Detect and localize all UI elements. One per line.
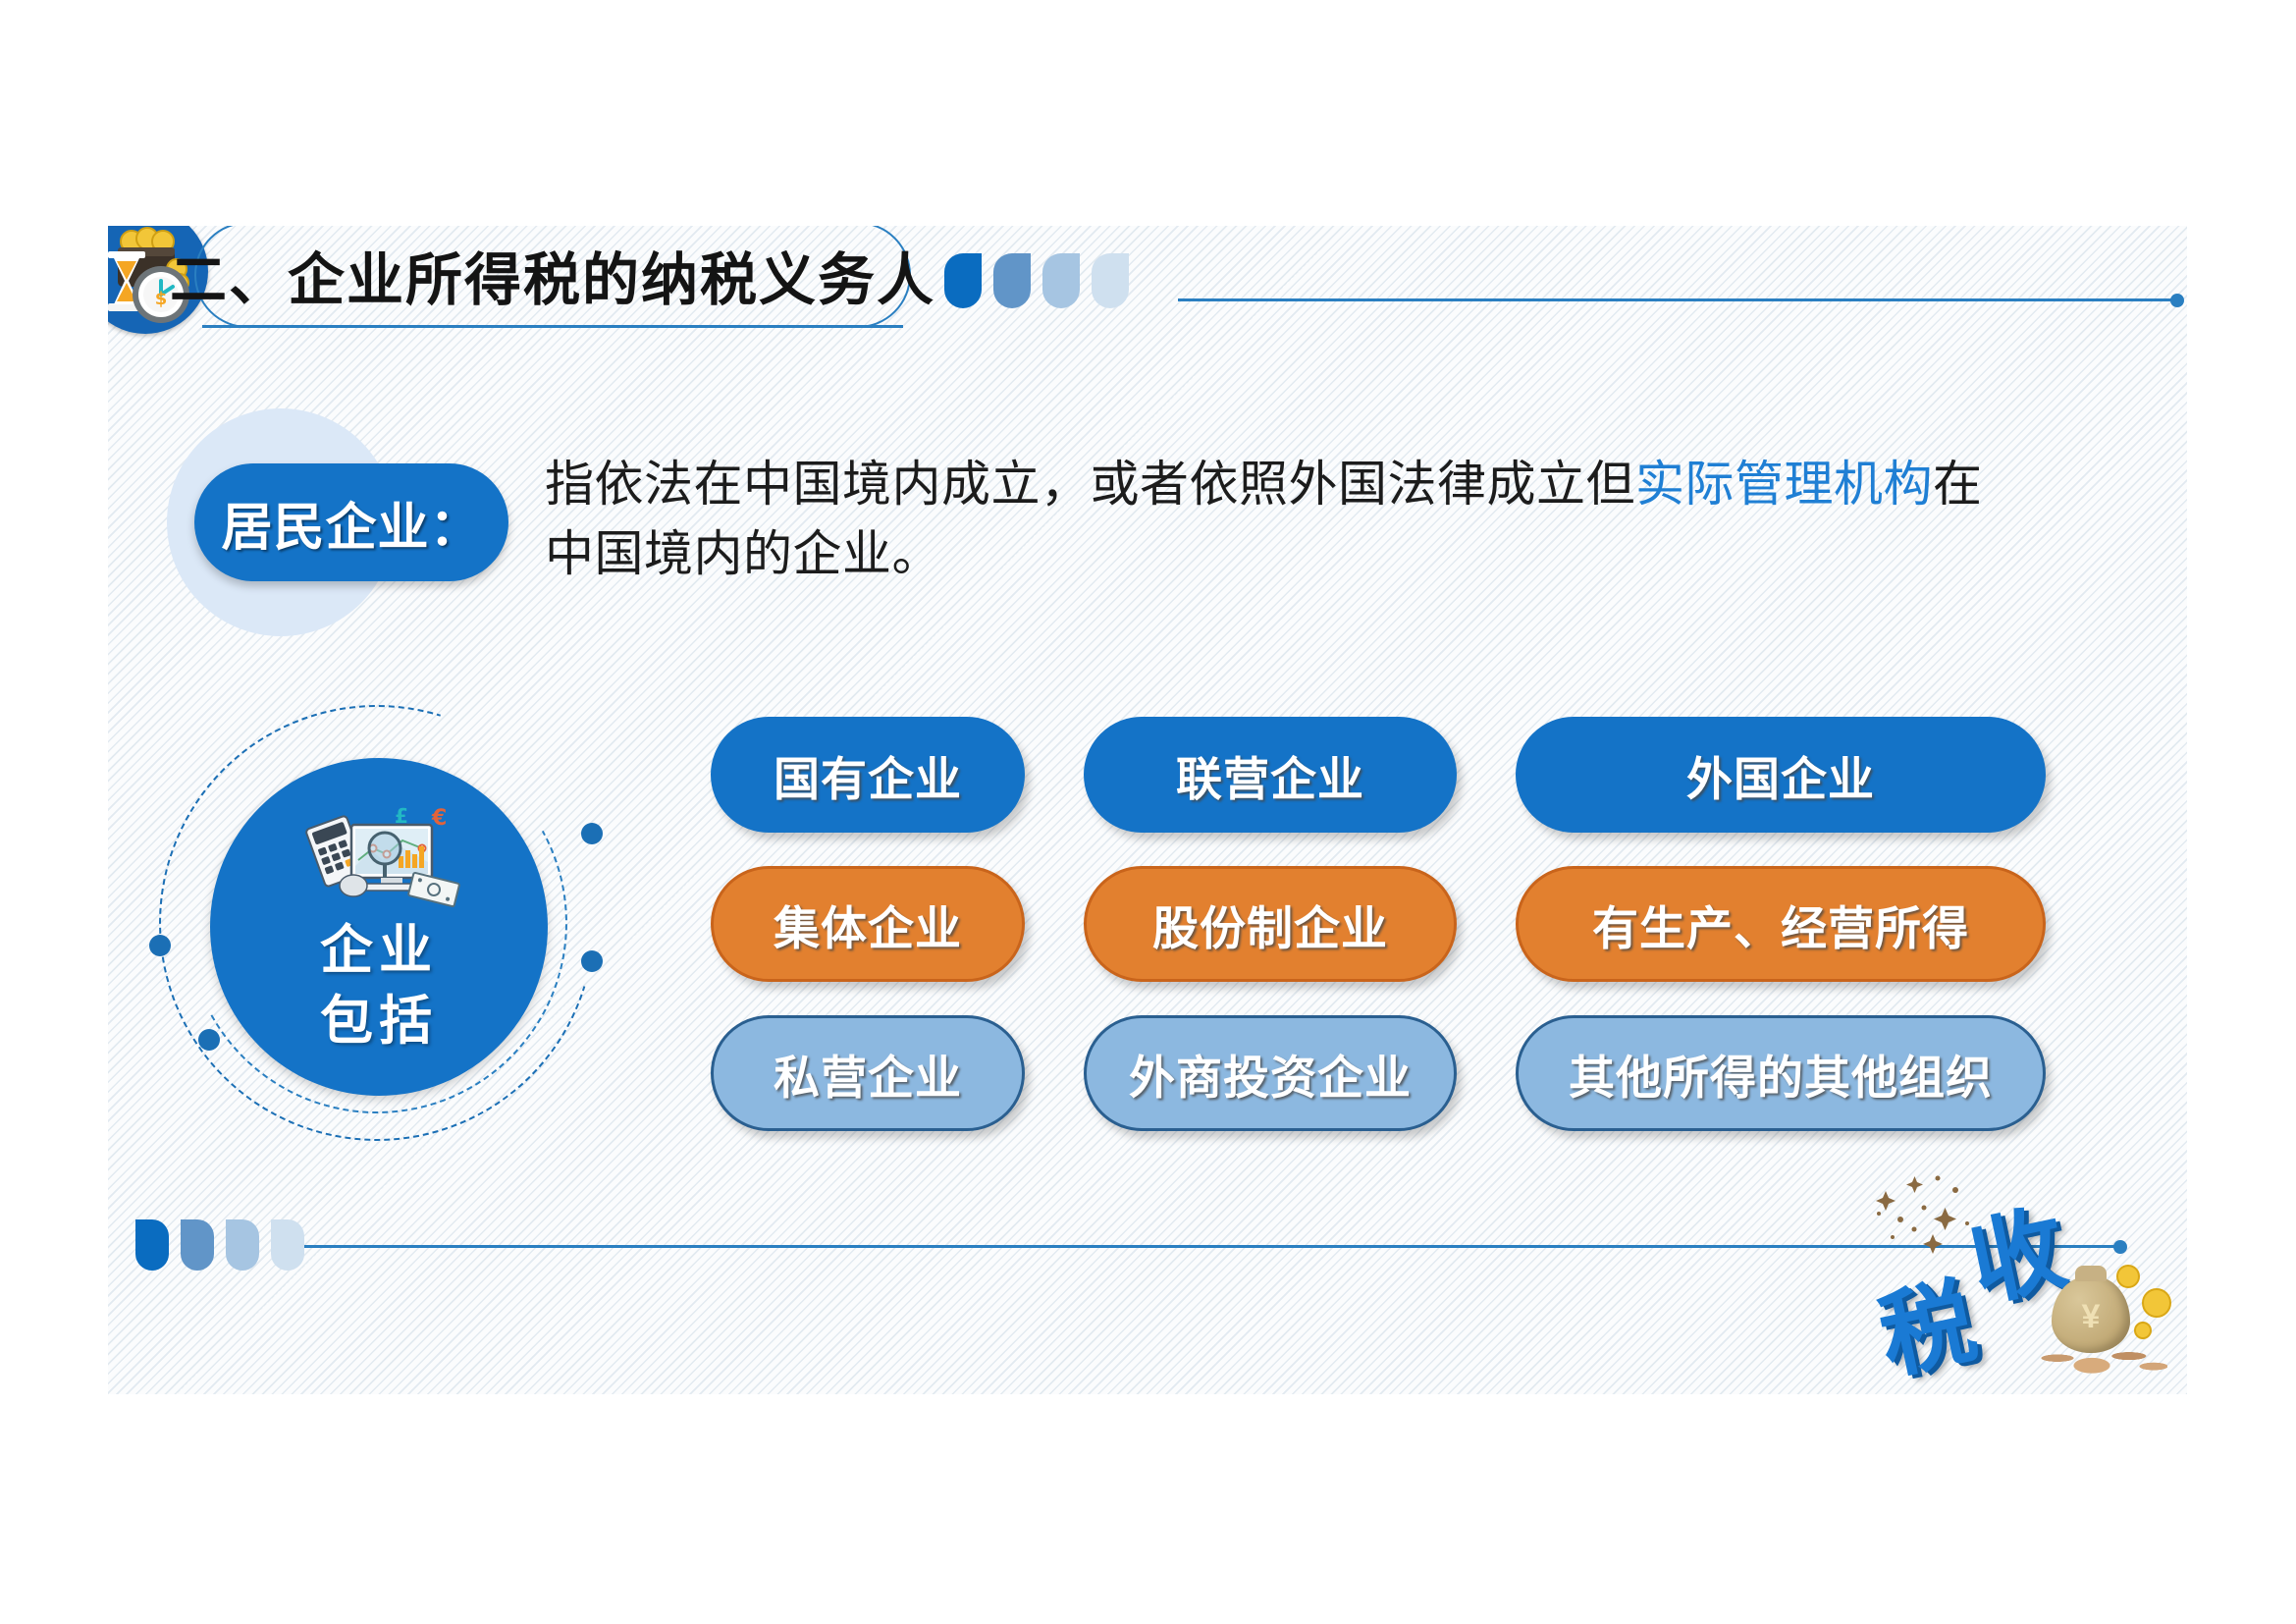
grid-gap	[1457, 866, 1516, 982]
resident-enterprise-label-text: 居民企业：	[221, 486, 481, 560]
category-pill-collective[interactable]: 集体企业	[711, 866, 1025, 982]
category-pill-label: 国有企业	[774, 741, 962, 809]
grid-gap	[1025, 717, 1084, 833]
title-leaf-decoration	[944, 253, 1141, 308]
category-pill-state-owned[interactable]: 国有企业	[711, 717, 1025, 833]
category-pill-label: 集体企业	[774, 891, 962, 958]
description-part-1: 指依法在中国境内成立，或者依照外国法律成立但	[545, 457, 1635, 512]
category-pill-label: 有生产、经营所得	[1592, 891, 1969, 958]
enterprise-includes-circle: £ € 企业 包括	[210, 758, 548, 1096]
grid-gap	[1025, 866, 1084, 982]
category-pill-foreign[interactable]: 外国企业	[1516, 717, 2046, 833]
title-frame: 二、企业所得税的纳税义务人	[194, 226, 911, 328]
category-pill-label: 外国企业	[1686, 741, 1875, 809]
bottom-rule-line	[304, 1245, 2120, 1248]
leaf-shape-2	[993, 253, 1031, 308]
category-pill-foreign-invested[interactable]: 外商投资企业	[1084, 1015, 1457, 1131]
category-pill-production-income[interactable]: 有生产、经营所得	[1516, 866, 2046, 982]
arc-endpoint-dot-2	[149, 935, 171, 956]
money-bag-icon	[2052, 1276, 2130, 1353]
slide-canvas: $ 二、企业所得税的纳税义务人 居民企业： 指依法在中国境内成立，或者依照外国法…	[108, 226, 2187, 1394]
includes-line-2: 包括	[320, 987, 438, 1056]
leaf-shape-4	[271, 1219, 304, 1271]
svg-text:$: $	[155, 289, 168, 309]
resident-enterprise-label: 居民企业：	[194, 463, 508, 581]
svg-text:€: €	[431, 806, 447, 831]
includes-line-1: 企业	[320, 916, 438, 986]
title-row: $ 二、企业所得税的纳税义务人	[108, 226, 2187, 353]
category-pill-joint-stock[interactable]: 股份制企业	[1084, 866, 1457, 982]
description-highlight: 实际管理机构	[1635, 457, 1933, 512]
category-pill-joint-venture[interactable]: 联营企业	[1084, 717, 1457, 833]
category-pill-label: 私营企业	[774, 1040, 962, 1108]
finance-desktop-calculator-icon: £ €	[296, 805, 461, 920]
enterprise-category-grid: 国有企业 联营企业 外国企业 集体企业 股份制企业 有生产、经营所得	[711, 717, 2144, 1139]
enterprise-includes-group: £ € 企业 包括	[159, 717, 669, 1129]
category-pill-label: 联营企业	[1176, 741, 1364, 809]
category-row-light-blue: 私营企业 外商投资企业 其他所得的其他组织	[711, 1015, 2144, 1131]
svg-text:£: £	[395, 805, 408, 828]
tax-money-illustration: 收 税	[1865, 1168, 2187, 1394]
leaf-shape-1	[135, 1219, 169, 1271]
grid-gap	[1457, 717, 1516, 833]
title-rule-line	[1178, 298, 2177, 301]
page-title: 二、企业所得税的纳税义务人	[196, 226, 909, 326]
grid-gap	[1025, 1015, 1084, 1131]
category-pill-label: 外商投资企业	[1129, 1040, 1412, 1108]
arc-endpoint-dot-4	[198, 1029, 220, 1051]
resident-enterprise-description: 指依法在中国境内成立，或者依照外国法律成立但实际管理机构在中国境内的企业。	[545, 450, 2017, 589]
category-pill-label: 股份制企业	[1152, 891, 1388, 958]
category-row-blue: 国有企业 联营企业 外国企业	[711, 717, 2144, 833]
leaf-shape-1	[944, 253, 982, 308]
gold-coin-2	[2142, 1288, 2171, 1318]
arc-endpoint-dot-3	[581, 950, 603, 972]
gold-coin-3	[2134, 1322, 2152, 1339]
category-pill-other-organizations[interactable]: 其他所得的其他组织	[1516, 1015, 2046, 1131]
leaf-shape-3	[1042, 253, 1080, 308]
gold-coin-1	[2116, 1265, 2140, 1288]
leaf-shape-2	[181, 1219, 214, 1271]
category-row-orange: 集体企业 股份制企业 有生产、经营所得	[711, 866, 2144, 982]
category-pill-private[interactable]: 私营企业	[711, 1015, 1025, 1131]
leaf-shape-4	[1092, 253, 1129, 308]
arc-endpoint-dot-1	[581, 823, 603, 844]
bottom-leaf-decoration	[135, 1219, 316, 1271]
category-pill-label: 其他所得的其他组织	[1569, 1040, 1993, 1108]
grid-gap	[1457, 1015, 1516, 1131]
leaf-shape-3	[226, 1219, 259, 1271]
